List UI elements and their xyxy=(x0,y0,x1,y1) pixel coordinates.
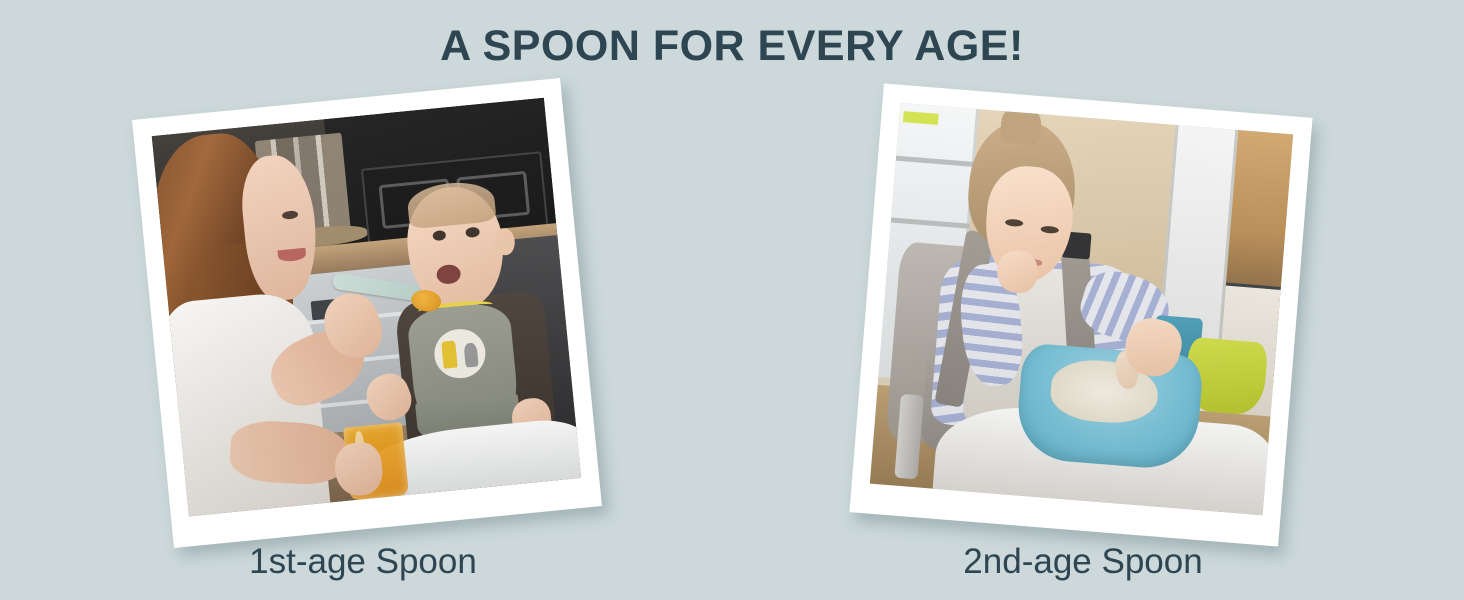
photo-second-age xyxy=(870,103,1293,515)
photo-first-age xyxy=(152,98,581,517)
caption-second-age: 2nd-age Spoon xyxy=(868,542,1298,582)
toddler-hair-tuft xyxy=(1000,103,1042,144)
toddler-fist-left xyxy=(996,249,1039,294)
caption-first-age: 1st-age Spoon xyxy=(148,542,578,582)
bib-deer-icon xyxy=(441,341,458,369)
polaroid-card-second-age[interactable] xyxy=(849,83,1312,546)
banner-root: A SPOON FOR EVERY AGE! xyxy=(0,0,1464,600)
page-title: A SPOON FOR EVERY AGE! xyxy=(0,22,1464,71)
polaroid-card-first-age[interactable] xyxy=(132,78,602,548)
